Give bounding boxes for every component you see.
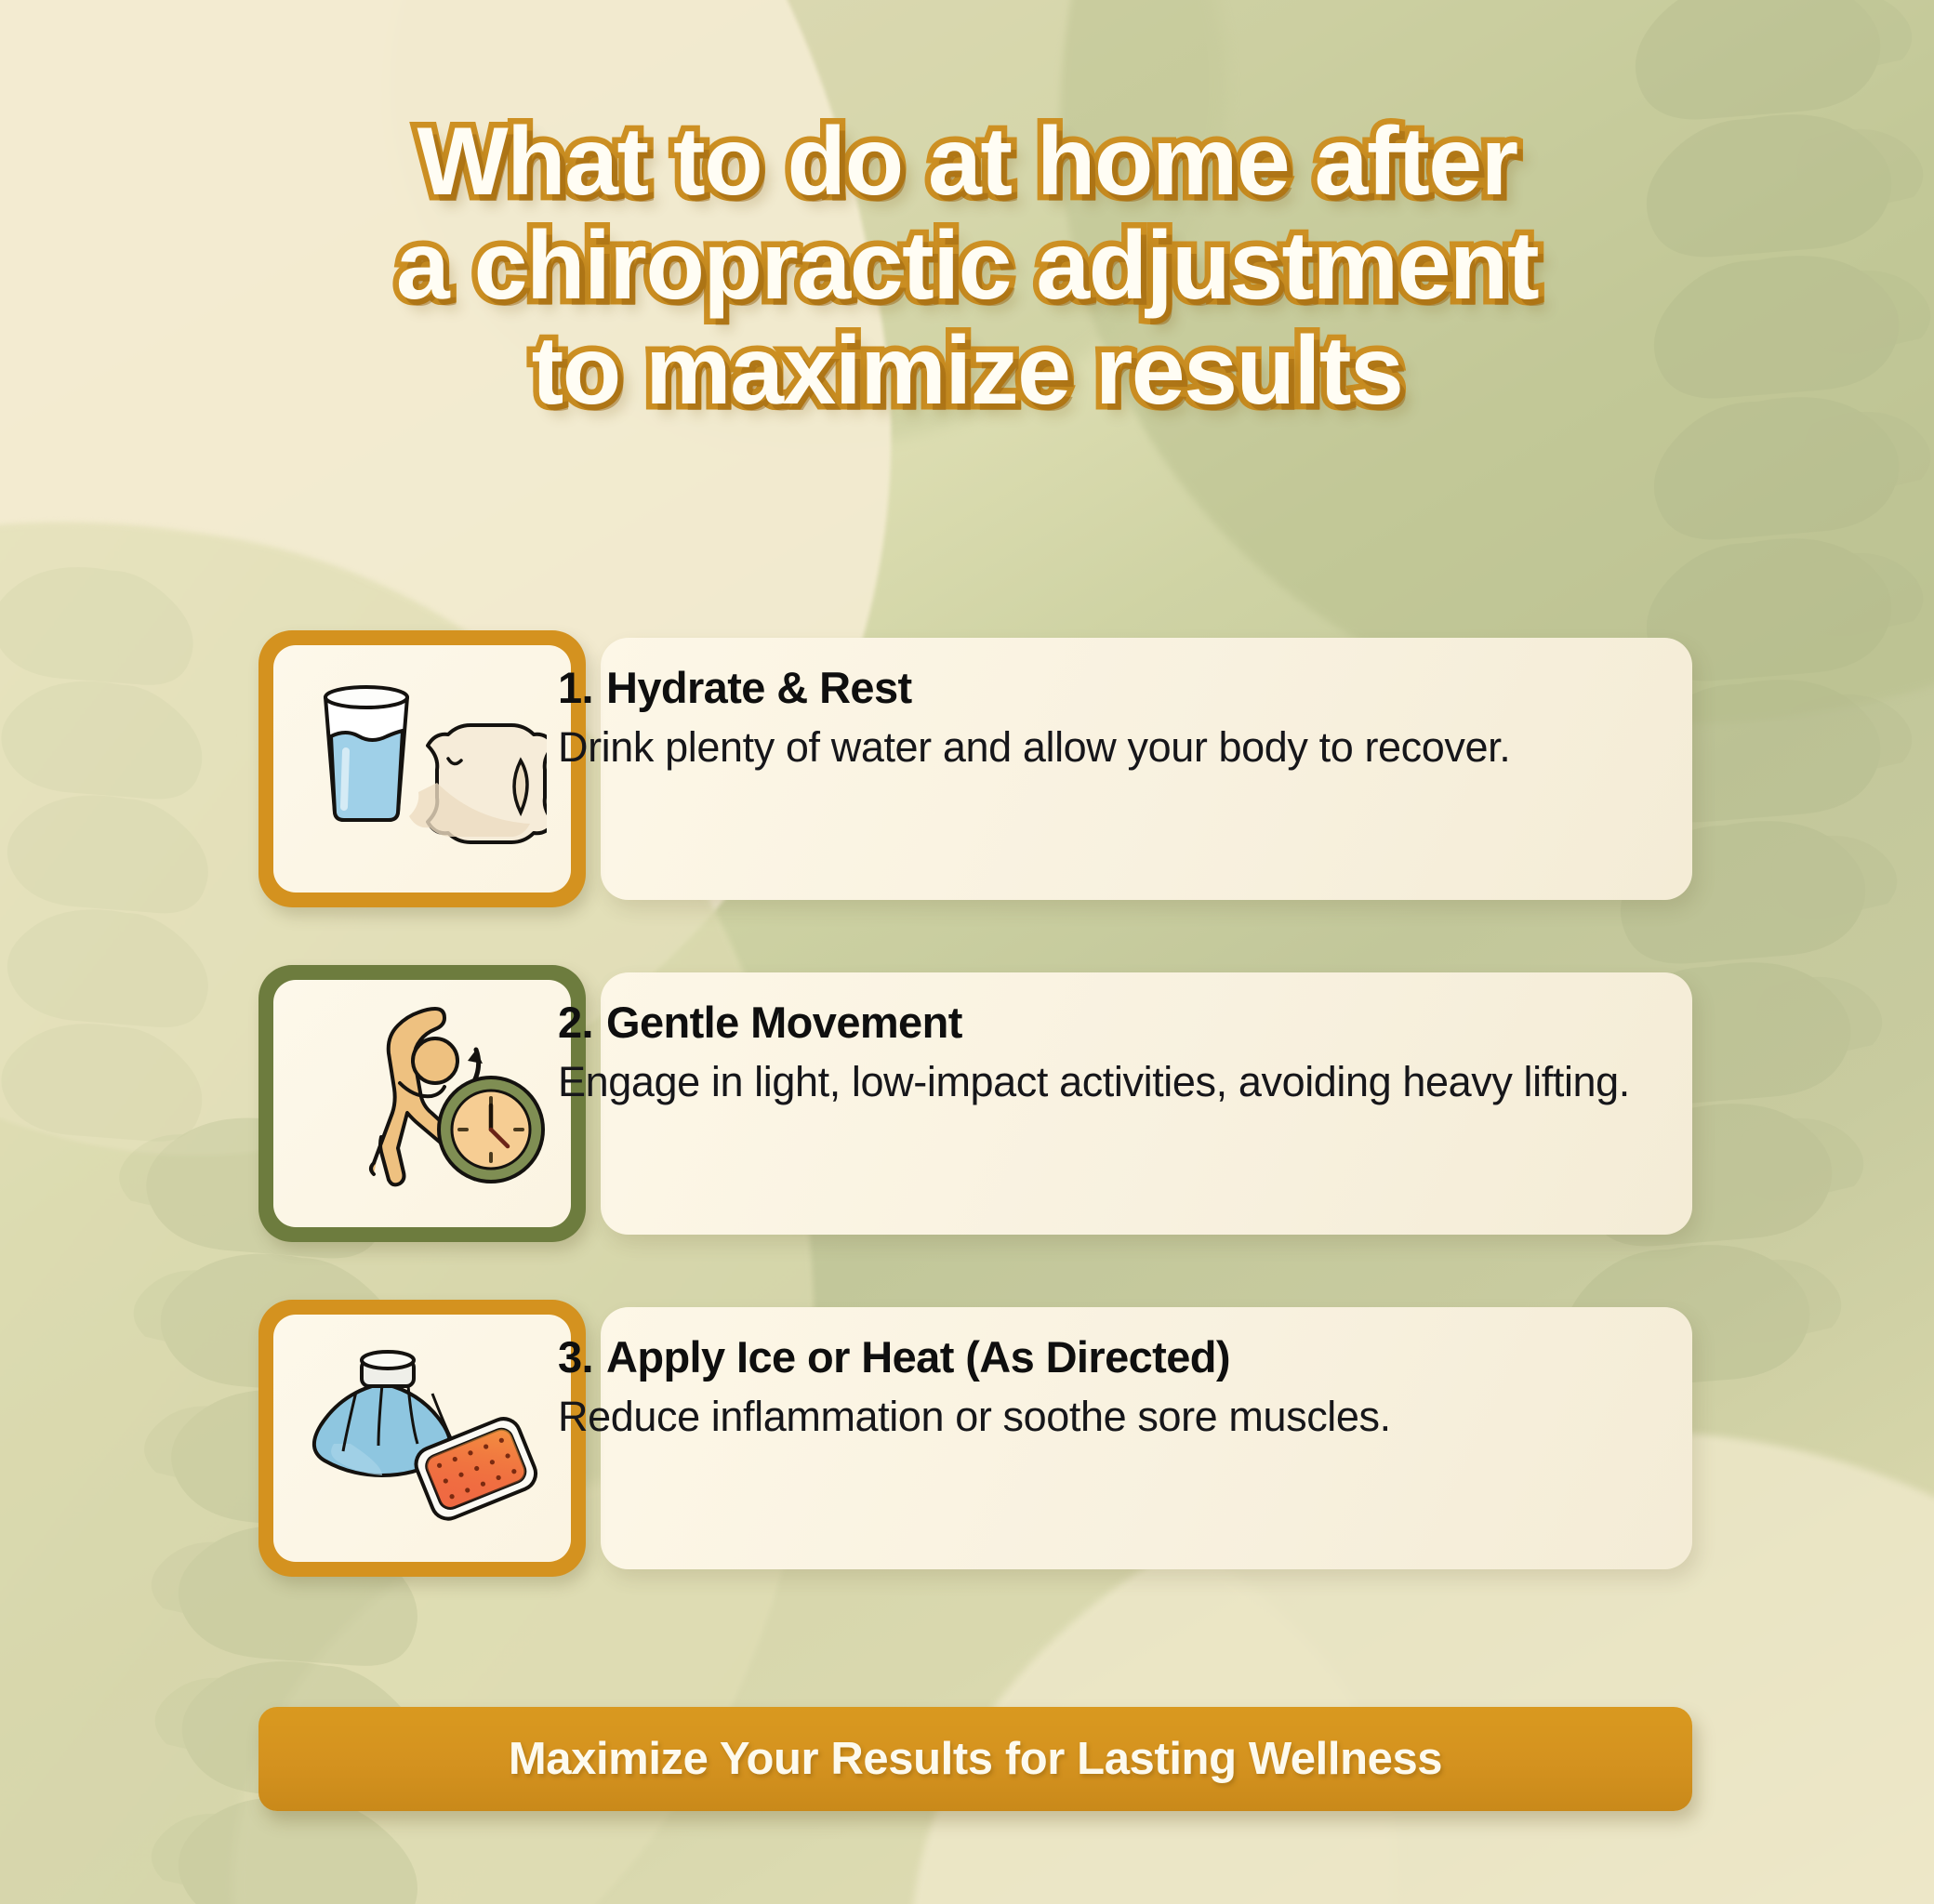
icon-frame-ice-or-heat: [258, 1300, 586, 1577]
title-line-3: to maximize results: [84, 319, 1850, 423]
icon-inner-panel: [273, 645, 571, 892]
card-number: 3.: [558, 1332, 593, 1382]
card-number: 1.: [558, 663, 593, 712]
card-text: 3.Apply Ice or Heat (As Directed) Reduce…: [558, 1331, 1649, 1444]
icon-inner-panel: [273, 1315, 571, 1562]
card-number: 2.: [558, 998, 593, 1047]
card-title: 3.Apply Ice or Heat (As Directed): [558, 1331, 1649, 1382]
icon-frame-hydrate-rest: [258, 630, 586, 907]
footer-banner: Maximize Your Results for Lasting Wellne…: [258, 1707, 1692, 1811]
list-item: 3.Apply Ice or Heat (As Directed) Reduce…: [258, 1300, 1692, 1577]
card-title: 2.Gentle Movement: [558, 997, 1649, 1048]
card-heading: Gentle Movement: [606, 998, 962, 1047]
card-heading: Hydrate & Rest: [606, 663, 912, 712]
title-line-1: What to do at home after: [84, 110, 1850, 214]
card-heading: Apply Ice or Heat (As Directed): [606, 1332, 1230, 1382]
card-title: 1.Hydrate & Rest: [558, 662, 1649, 713]
footer-banner-text: Maximize Your Results for Lasting Wellne…: [509, 1733, 1442, 1785]
water-glass-and-pillow-icon: [298, 671, 547, 866]
icon-inner-panel: [273, 980, 571, 1227]
icon-frame-gentle-movement: [258, 965, 586, 1242]
tips-list: 1.Hydrate & Rest Drink plenty of water a…: [258, 630, 1692, 1634]
stretching-person-and-clock-icon: [296, 1005, 549, 1202]
card-text: 1.Hydrate & Rest Drink plenty of water a…: [558, 662, 1649, 774]
page-title: What to do at home after a chiropractic …: [0, 110, 1934, 423]
card-description: Reduce inflammation or soothe sore muscl…: [558, 1390, 1649, 1444]
card-description: Engage in light, low-impact activities, …: [558, 1055, 1649, 1109]
card-text: 2.Gentle Movement Engage in light, low-i…: [558, 997, 1649, 1109]
card-description: Drink plenty of water and allow your bod…: [558, 721, 1649, 774]
list-item: 1.Hydrate & Rest Drink plenty of water a…: [258, 630, 1692, 907]
title-line-2: a chiropractic adjustment: [84, 214, 1850, 318]
ice-pack-and-heat-pad-icon: [295, 1340, 550, 1537]
infographic-poster: What to do at home after a chiropractic …: [0, 0, 1934, 1904]
list-item: 2.Gentle Movement Engage in light, low-i…: [258, 965, 1692, 1242]
